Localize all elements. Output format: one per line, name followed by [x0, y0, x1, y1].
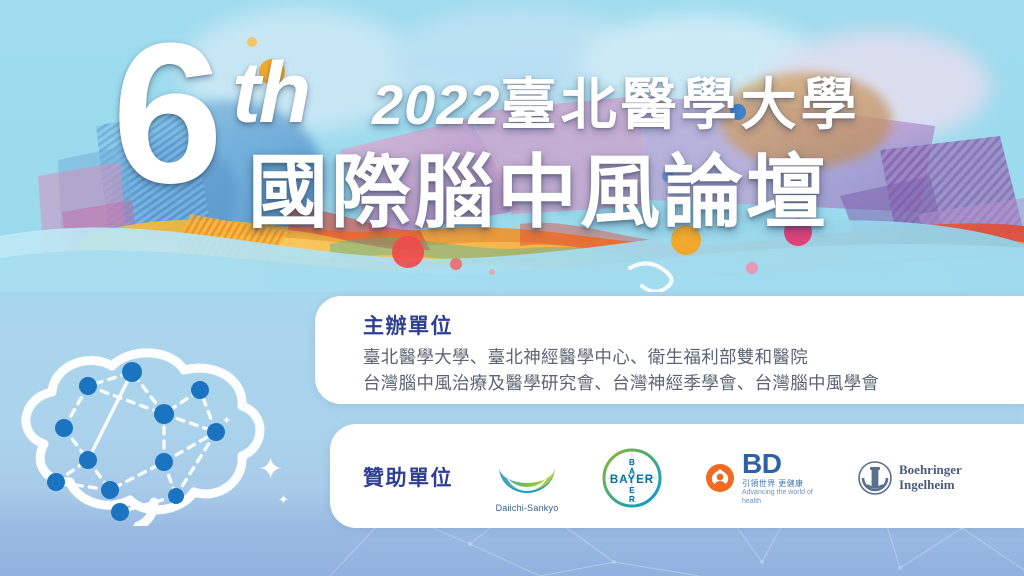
edition-suffix: th — [232, 50, 309, 136]
daiichi-sankyo-caption: Daiichi-Sankyo — [496, 503, 559, 513]
daiichi-sankyo-mark — [495, 443, 559, 501]
brain-network-icon — [4, 336, 304, 526]
boehringer-caduceus-icon — [858, 461, 892, 495]
bi-line-2: Ingelheim — [899, 478, 962, 493]
svg-text:R: R — [629, 494, 635, 504]
sponsor-logo-row: Daiichi-Sankyo BAYER B A E R — [495, 430, 962, 526]
svg-text:A: A — [629, 466, 635, 476]
organizer-line-2: 台灣腦中風治療及醫學研究會、台灣神經季學會、台灣腦中風學會 — [363, 370, 879, 395]
edition-ordinal: 6th — [112, 14, 217, 214]
event-year: 2022 — [372, 73, 501, 136]
sponsor-heading: 贊助單位 — [363, 462, 453, 492]
bd-chinese-tagline: 引領世界 更健康 — [742, 480, 816, 488]
boehringer-ingelheim-logo: Boehringer Ingelheim — [858, 461, 962, 495]
host-university: 臺北醫學大學 — [501, 73, 861, 136]
sparkle-icon: ✦ — [258, 452, 283, 487]
sparkle-icon: ✦ — [278, 492, 289, 508]
organizer-card: 主辦單位 臺北醫學大學、臺北神經醫學中心、衛生福利部雙和醫院 台灣腦中風治療及醫… — [315, 296, 1024, 404]
bd-flame-icon — [705, 463, 735, 493]
sponsor-card: 贊助單位 Daiichi-San — [330, 424, 1024, 528]
edition-number: 6 — [112, 14, 217, 214]
daiichi-sankyo-logo: Daiichi-Sankyo — [495, 443, 559, 513]
organizer-heading: 主辦單位 — [363, 310, 453, 340]
bd-logo-row: BD 引領世界 更健康 Advancing the world of healt… — [705, 450, 816, 507]
bi-logo-row: Boehringer Ingelheim — [858, 461, 962, 495]
conference-poster: 6th 2022臺北醫學大學 國際腦中風論壇 — [0, 0, 1024, 576]
organizer-line-1: 臺北醫學大學、臺北神經醫學中心、衛生福利部雙和醫院 — [363, 344, 808, 369]
bd-tagline: Advancing the world of health — [742, 489, 816, 507]
bd-wordmark: BD — [742, 450, 816, 478]
bd-logo: BD 引領世界 更健康 Advancing the world of healt… — [705, 450, 816, 507]
bd-text-block: BD 引領世界 更健康 Advancing the world of healt… — [742, 450, 816, 507]
poster-title-block: 6th 2022臺北醫學大學 國際腦中風論壇 — [0, 0, 1024, 292]
sparkle-icon: ✦ — [222, 414, 231, 427]
bayer-cross-mark: BAYER B A E R — [601, 447, 663, 509]
title-line-2: 國際腦中風論壇 — [248, 128, 829, 244]
bayer-logo: BAYER B A E R — [601, 447, 663, 509]
bi-wordmark: Boehringer Ingelheim — [899, 463, 962, 492]
bi-line-1: Boehringer — [899, 463, 962, 478]
